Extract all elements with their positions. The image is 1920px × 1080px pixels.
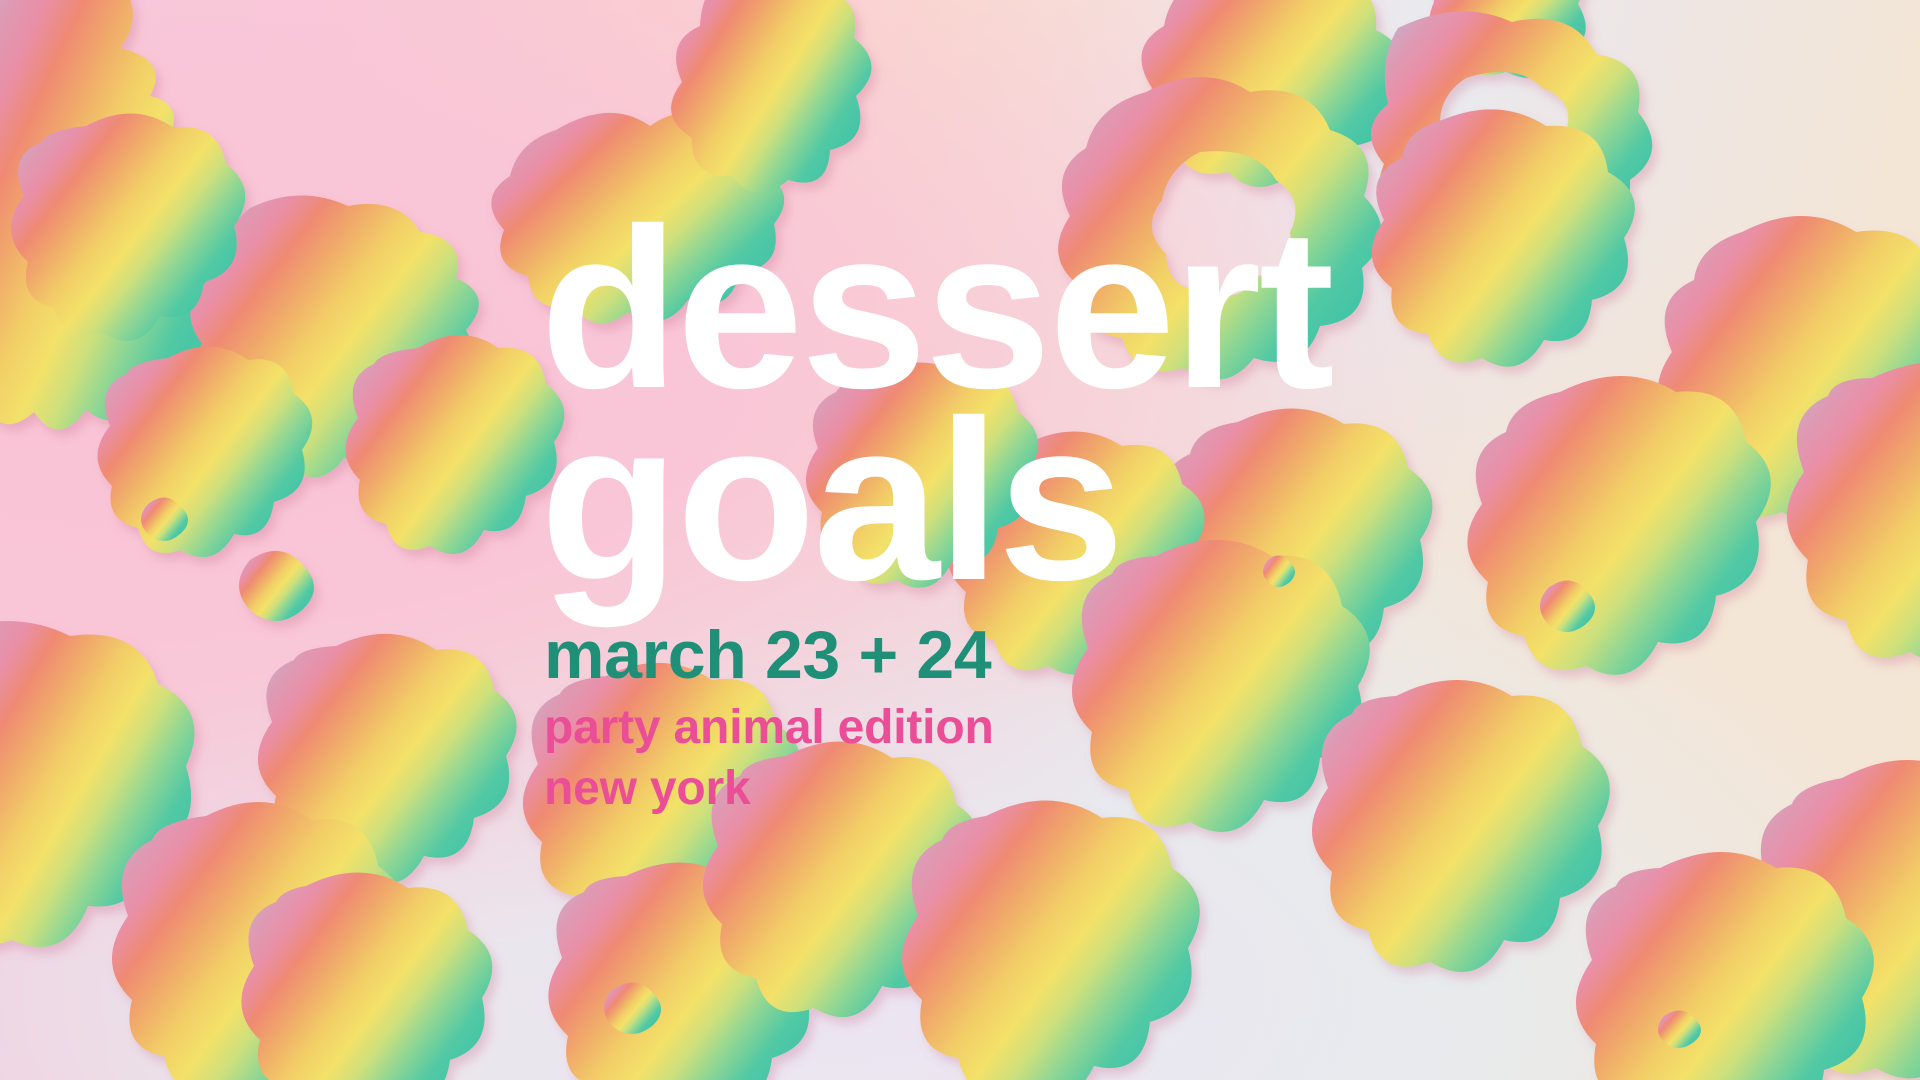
event-city: new york <box>544 760 1540 819</box>
event-edition: party animal edition <box>544 699 1540 758</box>
headline-line-2: goals <box>540 406 1540 598</box>
event-date: march 23 + 24 <box>544 621 1540 689</box>
page-title: dessert goals <box>540 214 1540 597</box>
poster-canvas: dessert goals march 23 + 24 party animal… <box>0 0 1920 1080</box>
poster-text-block: dessert goals march 23 + 24 party animal… <box>540 214 1540 818</box>
